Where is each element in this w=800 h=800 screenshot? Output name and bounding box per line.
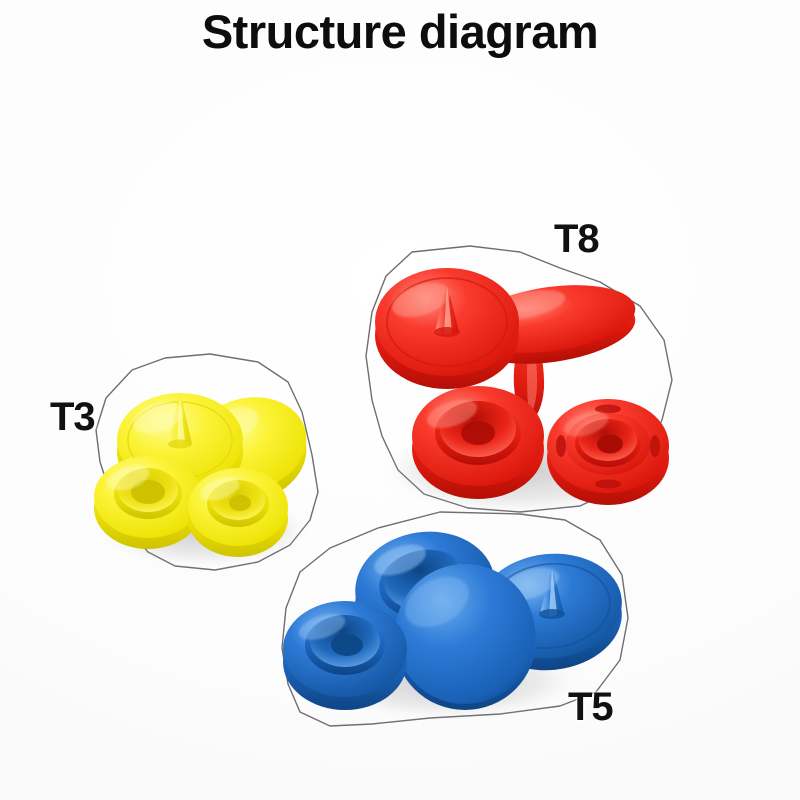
part-dome-cap-blue xyxy=(394,564,536,710)
part-stud-with-prong-red xyxy=(375,268,519,389)
fastener-group-t8 xyxy=(375,268,669,515)
group-label-t5: T5 xyxy=(568,685,613,730)
fastener-group-t3 xyxy=(94,385,317,568)
part-socket-ring-yellow-left xyxy=(94,456,202,549)
group-label-t8: T8 xyxy=(554,217,599,262)
structure-diagram-page: Structure diagram xyxy=(0,0,800,800)
part-socket-ring-yellow-right xyxy=(188,468,288,557)
snap-fastener-illustration xyxy=(0,0,800,800)
part-socket-ring-red-left xyxy=(412,386,544,499)
part-socket-ring-blue-front xyxy=(283,601,407,710)
group-label-t3: T3 xyxy=(50,395,95,440)
part-socket-ring-red-right xyxy=(547,399,669,505)
